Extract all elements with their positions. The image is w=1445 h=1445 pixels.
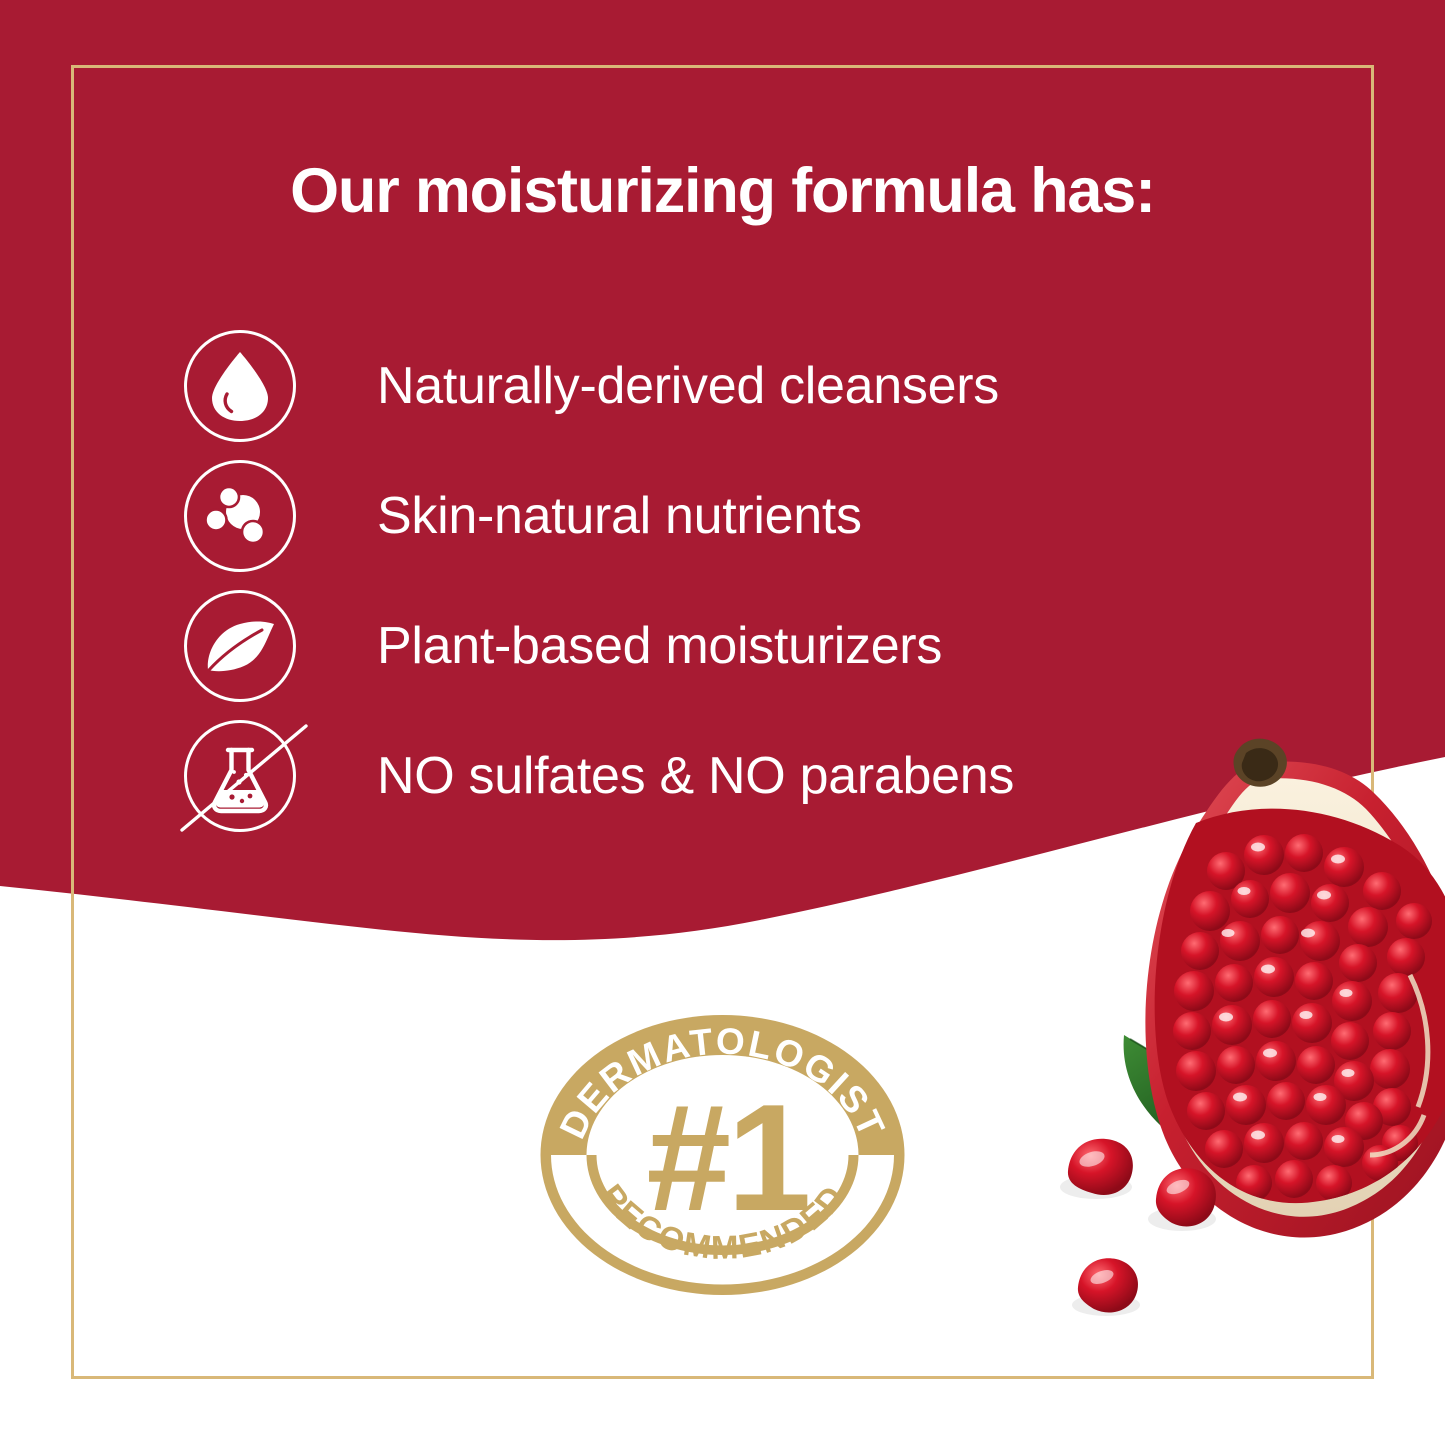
list-item: Naturally-derived cleansers — [184, 330, 1284, 442]
pomegranate-image — [1010, 735, 1445, 1335]
badge-rank-label: #1 — [646, 1073, 808, 1243]
list-item: Plant-based moisturizers — [184, 590, 1284, 702]
pomegranate-seed — [1072, 1258, 1140, 1316]
pomegranate-seed — [1060, 1139, 1133, 1199]
no-chemicals-flask-icon — [184, 720, 296, 832]
list-item: Skin-natural nutrients — [184, 460, 1284, 572]
list-item-label: Plant-based moisturizers — [377, 616, 942, 676]
list-item-label: Naturally-derived cleansers — [377, 356, 999, 416]
page-title: Our moisturizing formula has: — [0, 158, 1445, 224]
list-item-label: NO sulfates & NO parabens — [377, 746, 1014, 806]
molecule-icon — [184, 460, 296, 572]
leaf-icon — [184, 590, 296, 702]
dermatologist-recommended-badge: DERMATOLOGIST RECOMMENDED #1 — [535, 1010, 910, 1300]
water-drop-icon — [184, 330, 296, 442]
list-item-label: Skin-natural nutrients — [377, 486, 862, 546]
product-benefits-banner: Our moisturizing formula has: Naturally-… — [0, 0, 1445, 1445]
pomegranate-crown — [1233, 739, 1286, 787]
pomegranate-seed — [1148, 1168, 1216, 1231]
